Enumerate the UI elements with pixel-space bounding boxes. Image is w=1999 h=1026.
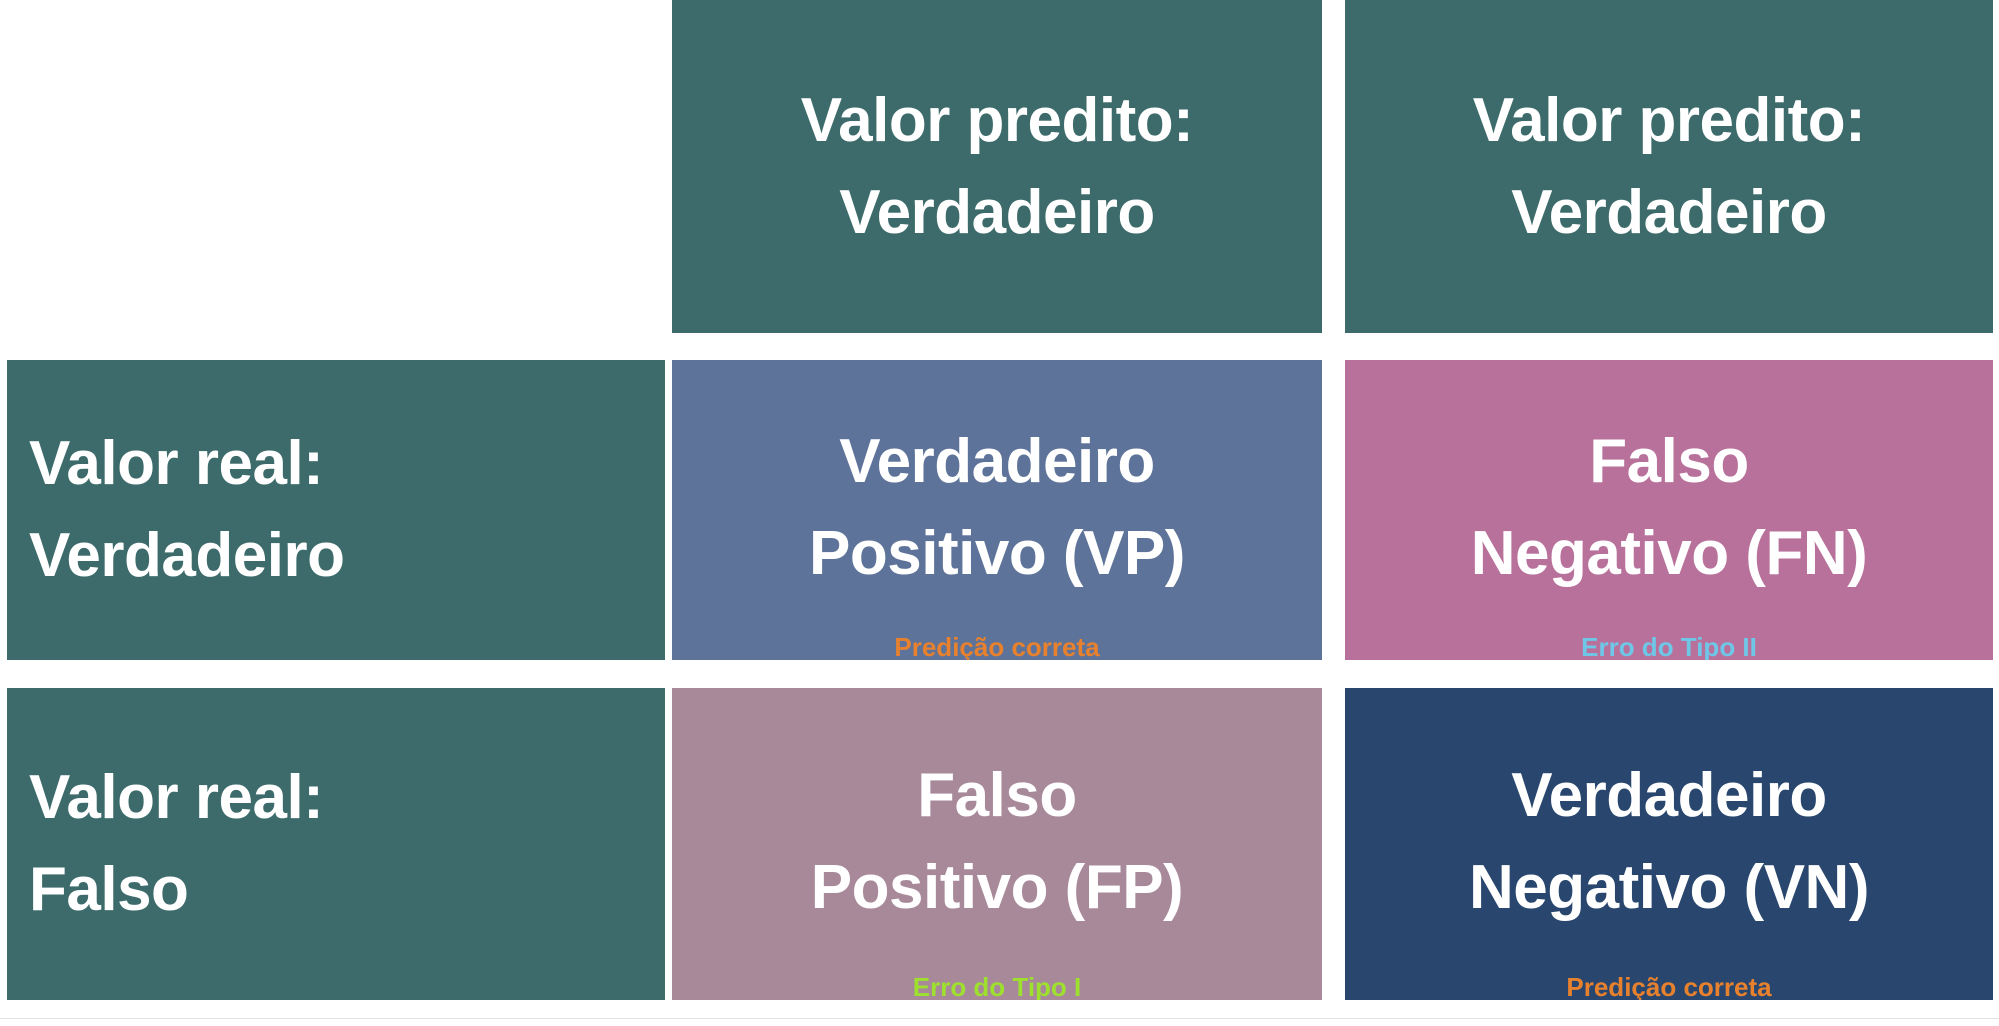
- header-predicted-false-line2: Verdadeiro: [1345, 167, 1993, 259]
- cell-true-negative-line1: Verdadeiro: [1345, 750, 1993, 842]
- cell-true-positive: Verdadeiro Positivo (VP) Predição corret…: [672, 360, 1322, 660]
- header-predicted-false-line1: Valor predito:: [1345, 75, 1993, 167]
- cell-true-positive-line2: Positivo (VP): [672, 508, 1322, 600]
- cell-false-negative-line2: Negativo (FN): [1345, 508, 1993, 600]
- header-predicted-true: Valor predito: Verdadeiro: [672, 0, 1322, 333]
- cell-false-positive-line1: Falso: [672, 750, 1322, 842]
- confusion-matrix: Valor predito: Verdadeiro Valor predito:…: [0, 0, 1999, 1026]
- header-predicted-true-line2: Verdadeiro: [672, 167, 1322, 259]
- header-predicted-false: Valor predito: Verdadeiro: [1345, 0, 1993, 333]
- cell-false-negative: Falso Negativo (FN) Erro do Tipo II: [1345, 360, 1993, 660]
- cell-false-positive-annotation: Erro do Tipo I: [672, 974, 1322, 1000]
- row-label-actual-false: Valor real: Falso: [7, 688, 665, 1000]
- row-label-actual-true-line2: Verdadeiro: [7, 510, 665, 602]
- row-label-actual-false-line1: Valor real:: [7, 752, 665, 844]
- matrix-corner-cell: [7, 0, 665, 333]
- cell-false-positive: Falso Positivo (FP) Erro do Tipo I: [672, 688, 1322, 1000]
- cell-false-negative-annotation: Erro do Tipo II: [1345, 634, 1993, 660]
- cell-true-negative: Verdadeiro Negativo (VN) Predição corret…: [1345, 688, 1993, 1000]
- bottom-divider: [0, 1018, 1999, 1019]
- cell-true-positive-line1: Verdadeiro: [672, 416, 1322, 508]
- cell-false-positive-line2: Positivo (FP): [672, 842, 1322, 934]
- row-label-actual-true-line1: Valor real:: [7, 418, 665, 510]
- row-label-actual-true: Valor real: Verdadeiro: [7, 360, 665, 660]
- header-predicted-true-line1: Valor predito:: [672, 75, 1322, 167]
- cell-true-negative-line2: Negativo (VN): [1345, 842, 1993, 934]
- cell-true-positive-annotation: Predição correta: [672, 634, 1322, 660]
- row-label-actual-false-line2: Falso: [7, 844, 665, 936]
- cell-false-negative-line1: Falso: [1345, 416, 1993, 508]
- cell-true-negative-annotation: Predição correta: [1345, 974, 1993, 1000]
